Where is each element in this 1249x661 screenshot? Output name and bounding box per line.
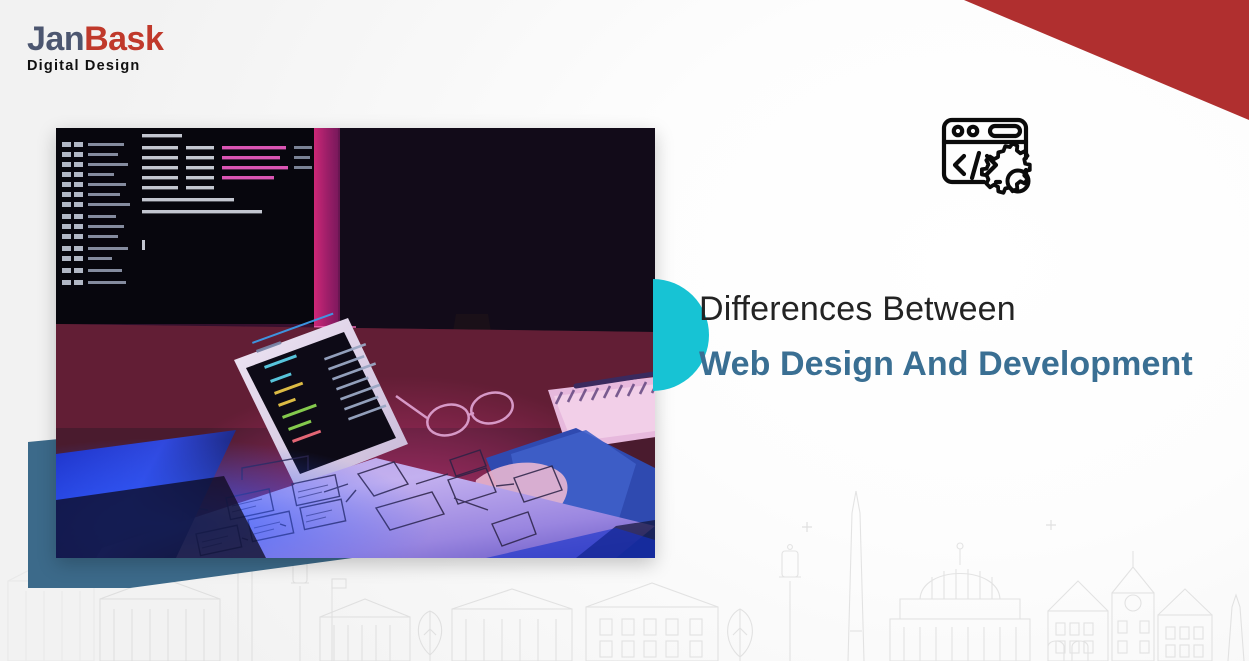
headline-line-1: Differences Between xyxy=(699,288,1229,332)
banner-canvas: JanBask Digital Design xyxy=(0,0,1249,661)
headline-line-2: Web Design And Development xyxy=(699,342,1229,386)
logo-wordmark-secondary: Bask xyxy=(84,20,163,58)
corner-triangle-decoration xyxy=(949,0,1249,120)
logo-tagline: Digital Design xyxy=(27,59,163,74)
logo-wordmark: JanBask xyxy=(27,22,163,56)
browser-code-gear-icon xyxy=(940,108,1045,203)
logo-wordmark-primary: Jan xyxy=(27,20,84,58)
headline-block: Differences Between Web Design And Devel… xyxy=(699,288,1229,386)
hero-photo xyxy=(56,128,655,558)
brand-logo[interactable]: JanBask Digital Design xyxy=(27,22,163,74)
